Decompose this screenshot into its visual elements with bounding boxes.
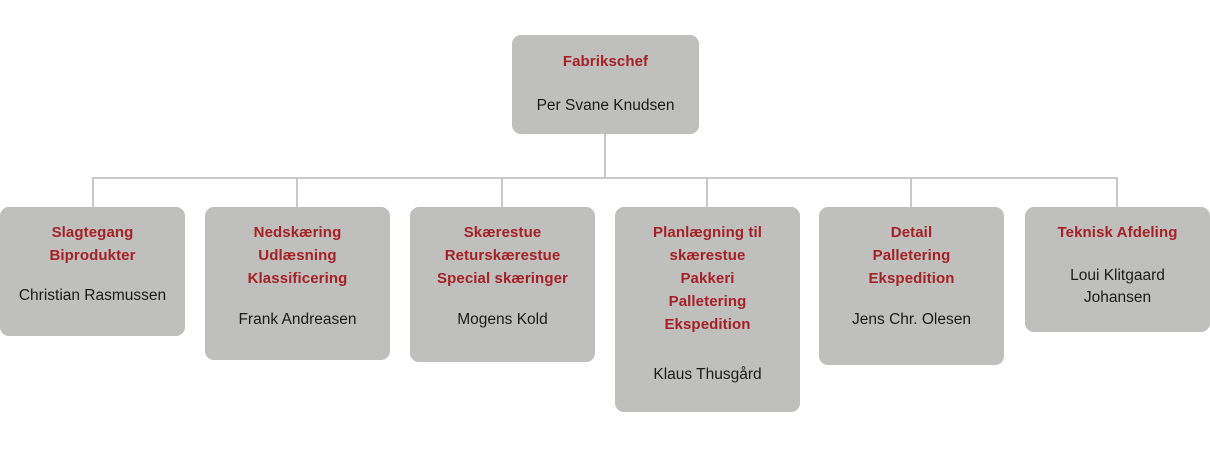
connector-drop-0 <box>92 177 94 208</box>
org-node-skaerestue[interactable]: Skærestue Returskærestue Special skæring… <box>410 207 595 362</box>
connector-drop-1 <box>296 177 298 208</box>
org-node-person: Frank Andreasen <box>238 309 356 331</box>
org-node-person: Jens Chr. Olesen <box>852 309 971 331</box>
org-node-root[interactable]: Fabrikschef Per Svane Knudsen <box>512 35 699 134</box>
org-node-title: Fabrikschef <box>563 50 648 73</box>
connector-horizontal-bus <box>93 177 1118 179</box>
org-node-person: Loui Klitgaard Johansen <box>1070 265 1165 309</box>
org-node-person: Christian Rasmussen <box>19 285 166 307</box>
org-node-title: Skærestue Returskærestue Special skæring… <box>437 221 568 290</box>
org-node-nedskaering-udlaesning-klassificering[interactable]: Nedskæring Udlæsning Klassificering Fran… <box>205 207 390 360</box>
org-node-person: Mogens Kold <box>457 309 547 331</box>
org-node-person: Klaus Thusgård <box>653 364 761 386</box>
connector-drop-5 <box>1116 177 1118 208</box>
org-node-title: Planlægning til skærestue Pakkeri Pallet… <box>653 221 762 336</box>
connector-drop-3 <box>706 177 708 208</box>
org-node-title: Slagtegang Biprodukter <box>49 221 135 267</box>
org-node-person: Per Svane Knudsen <box>537 95 675 117</box>
connector-drop-2 <box>501 177 503 208</box>
org-node-planlaegning-pakkeri[interactable]: Planlægning til skærestue Pakkeri Pallet… <box>615 207 800 412</box>
org-node-slagtegang-biprodukter[interactable]: Slagtegang Biprodukter Christian Rasmuss… <box>0 207 185 336</box>
org-node-title: Teknisk Afdeling <box>1058 221 1178 244</box>
org-node-detail-palletering-ekspedition[interactable]: Detail Palletering Ekspedition Jens Chr.… <box>819 207 1004 365</box>
org-node-teknisk-afdeling[interactable]: Teknisk Afdeling Loui Klitgaard Johansen <box>1025 207 1210 332</box>
connector-root-stem <box>604 134 606 178</box>
connector-drop-4 <box>910 177 912 208</box>
org-node-title: Nedskæring Udlæsning Klassificering <box>248 221 348 290</box>
org-chart: Fabrikschef Per Svane Knudsen Slagtegang… <box>0 0 1210 450</box>
org-node-title: Detail Palletering Ekspedition <box>868 221 954 290</box>
